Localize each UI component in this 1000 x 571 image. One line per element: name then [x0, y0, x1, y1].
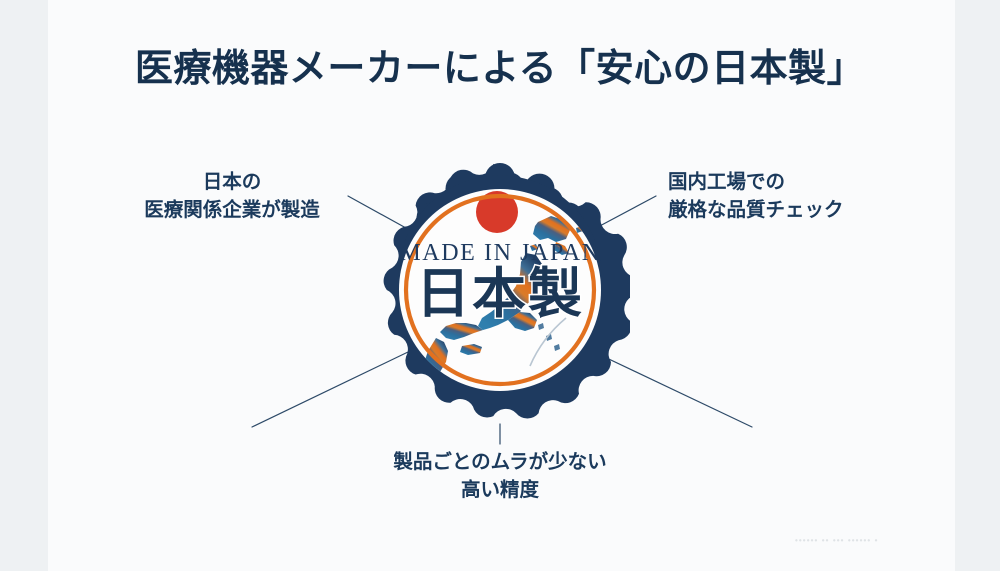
footer-watermark: •••••• •• ••• •••••• •: [795, 536, 970, 545]
page-title: 医療機器メーカーによる「安心の日本製」: [0, 48, 1000, 92]
made-in-japan-seal-icon: MADE IN JAPAN 日本製: [370, 160, 630, 420]
seal-text-made-in-japan: MADE IN JAPAN: [399, 240, 600, 266]
callout-quality-check: 国内工場での 厳格な品質チェック: [668, 168, 918, 225]
callout-precision: 製品ごとのムラが少ない 高い精度: [340, 448, 660, 505]
callout-manufacturer-line1: 日本の: [112, 168, 352, 196]
callout-precision-line1: 製品ごとのムラが少ない: [340, 448, 660, 476]
slide-canvas: 医療機器メーカーによる「安心の日本製」 日本の 医療関係企業が製造 国内工場での…: [0, 0, 1000, 571]
callout-quality-check-line1: 国内工場での: [668, 168, 918, 196]
callout-precision-line2: 高い精度: [340, 476, 660, 504]
callout-manufacturer-line2: 医療関係企業が製造: [112, 196, 352, 224]
seal-text-nihonsei: 日本製: [416, 264, 584, 324]
callout-quality-check-line2: 厳格な品質チェック: [668, 196, 918, 224]
callout-manufacturer: 日本の 医療関係企業が製造: [112, 168, 352, 225]
